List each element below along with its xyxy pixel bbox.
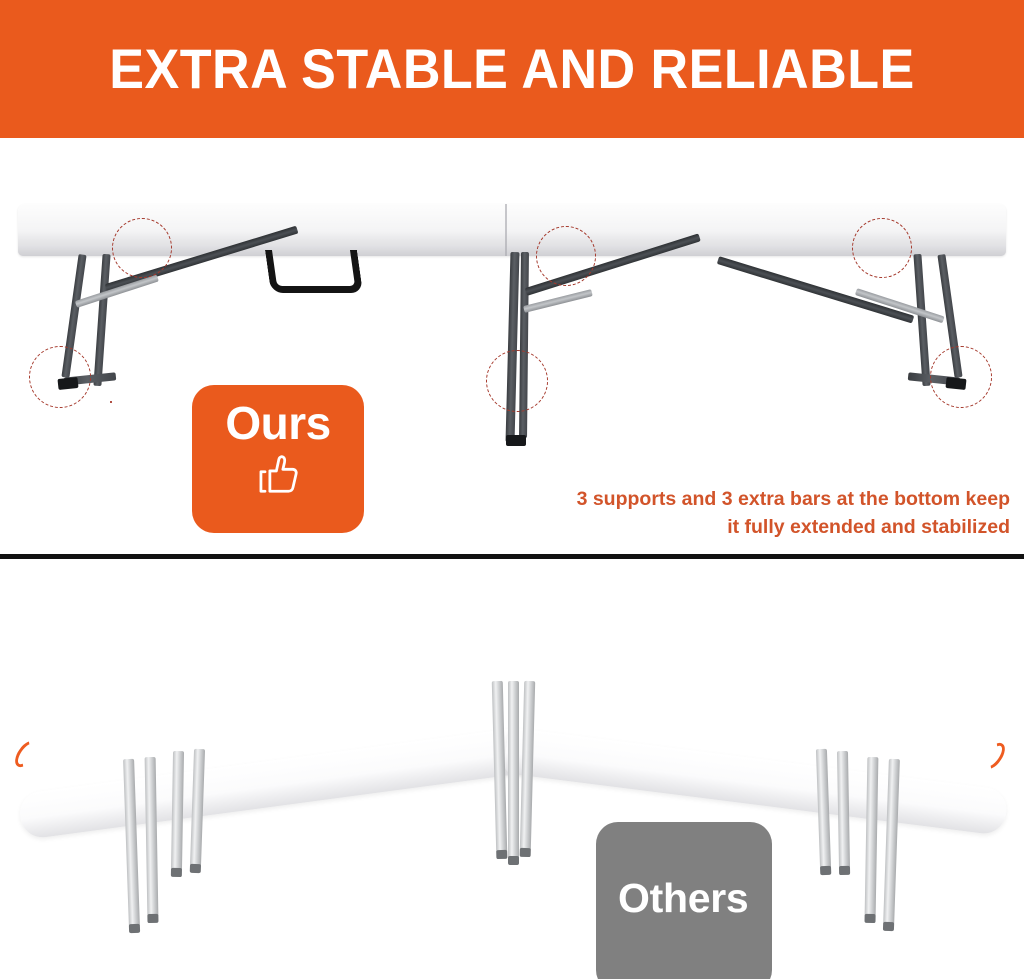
highlight-circle-right-foot [930, 346, 992, 408]
leg-left-rear [93, 254, 110, 386]
leg-center-front [506, 252, 520, 442]
highlight-circle-left-bar [112, 218, 172, 278]
thumbs-up-icon [252, 449, 304, 501]
ours-caption: 3 supports and 3 extra bars at the botto… [490, 486, 1010, 541]
others-leg-4 [190, 749, 205, 867]
others-product-image [0, 559, 1024, 979]
page-title: EXTRA STABLE AND RELIABLE [109, 41, 914, 97]
others-leg-9 [837, 751, 850, 869]
highlight-circle-center-foot [486, 350, 548, 412]
header-banner: EXTRA STABLE AND RELIABLE [0, 0, 1024, 138]
highlight-circle-center-bar [536, 226, 596, 286]
others-leg-6 [508, 681, 519, 859]
badge-others-label: Others [618, 877, 748, 920]
leg-center-foot-cap [506, 435, 526, 446]
highlight-arc-right [979, 739, 1009, 773]
badge-ours-label: Ours [225, 399, 330, 447]
tabletop-fold-seam [505, 204, 507, 256]
badge-others: Others [596, 822, 772, 979]
others-tabletop-left [17, 727, 527, 840]
ours-caption-line-1: 3 supports and 3 extra bars at the botto… [490, 486, 1010, 514]
others-leg-5 [492, 681, 507, 853]
others-panel [0, 559, 1024, 979]
highlight-circle-right-bar [852, 218, 912, 278]
highlight-circle-left-foot [29, 346, 91, 408]
carry-handle-icon [265, 250, 363, 293]
highlight-circle-left-joint [110, 401, 112, 403]
highlight-arc-left [11, 737, 41, 771]
ours-caption-line-2: it fully extended and stabilized [490, 514, 1010, 542]
badge-ours: Ours [192, 385, 364, 533]
product-comparison-infographic: EXTRA STABLE AND RELIABLE [0, 0, 1024, 979]
others-tabletop-right [503, 727, 1009, 836]
others-leg-7 [520, 681, 535, 851]
leg-right-rear [913, 254, 930, 386]
others-leg-3 [171, 751, 184, 871]
others-leg-10 [865, 757, 879, 917]
